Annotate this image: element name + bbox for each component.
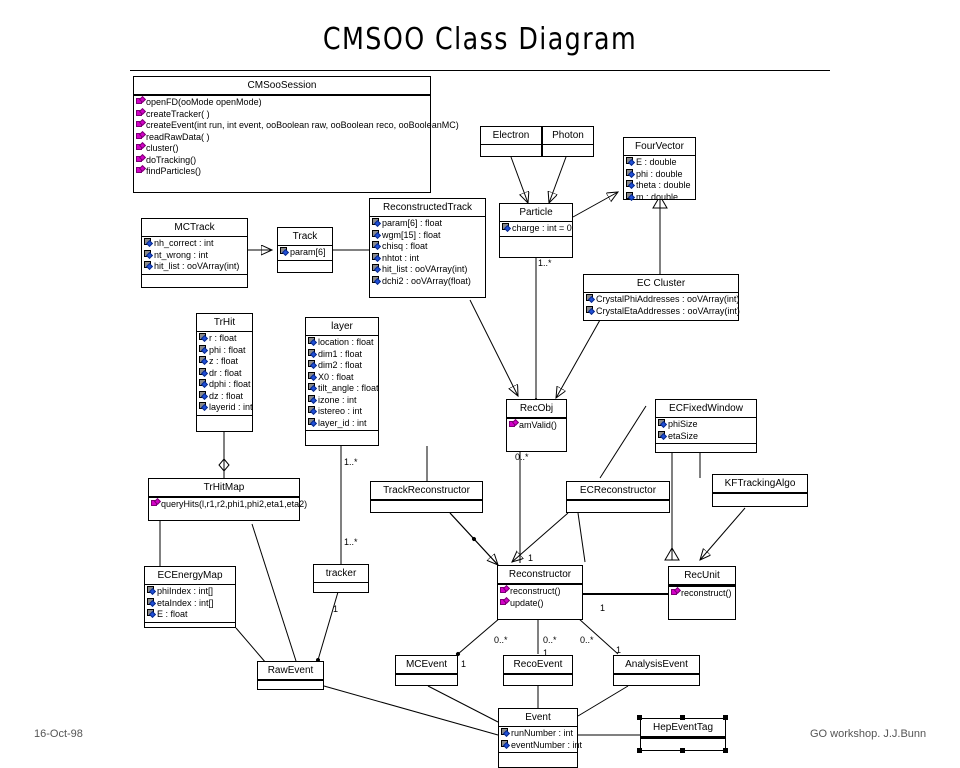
class-box-layer[interactable]: layer location : float dim1 : float dim2… — [305, 317, 379, 446]
attribute-icon — [626, 169, 635, 178]
method-row: update() — [498, 598, 582, 610]
methods-compartment — [500, 237, 572, 244]
attribute-icon — [308, 337, 317, 346]
methods-compartment: queryHits(l,r1,r2,phi1,phi2,eta1,eta2) — [149, 498, 299, 512]
class-box-trhitmap[interactable]: TrHitMap queryHits(l,r1,r2,phi1,phi2,eta… — [148, 478, 300, 521]
attribute-icon — [626, 157, 635, 166]
class-box-recobj[interactable]: RecObj amValid() — [506, 399, 567, 452]
attribute-row: dphi : float — [197, 379, 252, 391]
selection-handle[interactable] — [723, 715, 728, 720]
class-name: RawEvent — [258, 662, 323, 679]
class-box-ecfixedwindow[interactable]: ECFixedWindow phiSize etaSize — [655, 399, 757, 453]
methods-compartment — [371, 501, 482, 508]
attribute-icon — [501, 740, 510, 749]
attribute-row: nt_wrong : int — [142, 250, 247, 262]
attribute-row: dim1 : float — [306, 349, 378, 361]
class-box-kftrackingalgo[interactable]: KFTrackingAlgo — [712, 474, 808, 507]
class-name: ECReconstructor — [567, 482, 669, 499]
class-name: ECEnergyMap — [145, 567, 235, 584]
attribute-row: chisq : float — [370, 241, 485, 253]
attribute-row: phiSize — [656, 419, 756, 431]
attribute-icon — [501, 728, 510, 737]
divider — [656, 443, 756, 444]
class-name: CMSooSession — [134, 77, 430, 94]
class-name: EC Cluster — [584, 275, 738, 292]
attribute-row: z : float — [197, 356, 252, 368]
class-name: Electron — [481, 127, 541, 144]
multiplicity-label: 1 — [543, 648, 548, 658]
attributes-compartment — [258, 681, 323, 688]
multiplicity-label: 1 — [616, 645, 621, 655]
methods-compartment: reconstruct() update() — [498, 585, 582, 610]
attribute-row: CrystalPhiAddresses : ooVArray(int) — [584, 294, 738, 306]
divider — [197, 415, 252, 416]
attribute-icon — [308, 372, 317, 381]
attributes-compartment — [641, 739, 725, 746]
class-box-reconstructedtrack[interactable]: ReconstructedTrack param[6] : float wgm[… — [369, 198, 486, 298]
class-box-rawevent[interactable]: RawEvent — [257, 661, 324, 690]
attributes-compartment — [504, 675, 572, 682]
attribute-icon — [199, 356, 208, 365]
attributes-compartment: r : float phi : float z : float dr : flo… — [197, 332, 252, 415]
attribute-icon — [308, 418, 317, 427]
multiplicity-label: 0..* — [580, 635, 594, 645]
class-name: ECFixedWindow — [656, 400, 756, 417]
footer-date: 16-Oct-98 — [34, 728, 83, 740]
selection-handle[interactable] — [680, 748, 685, 753]
method-row: reconstruct() — [669, 588, 735, 600]
class-box-photon[interactable]: Photon — [542, 126, 594, 157]
method-icon — [671, 588, 680, 597]
attribute-row: hit_list : ooVArray(int) — [370, 264, 485, 276]
multiplicity-label: 0..* — [515, 452, 529, 462]
attributes-compartment — [396, 675, 457, 682]
attribute-row: tilt_angle : float — [306, 383, 378, 395]
class-box-recunit[interactable]: RecUnit reconstruct() — [668, 566, 736, 620]
methods-compartment: openFD(ooMode openMode) createTracker( )… — [134, 96, 430, 179]
attribute-icon — [308, 349, 317, 358]
attribute-icon — [308, 395, 317, 404]
class-name: KFTrackingAlgo — [713, 475, 807, 492]
method-row: openFD(ooMode openMode) — [134, 97, 430, 109]
class-name: AnalysisEvent — [614, 656, 699, 673]
selection-handle[interactable] — [723, 748, 728, 753]
multiplicity-label: 1..* — [344, 537, 358, 547]
attribute-row: dz : float — [197, 391, 252, 403]
attributes-compartment — [481, 145, 541, 152]
attribute-icon — [199, 402, 208, 411]
attribute-icon — [308, 360, 317, 369]
attribute-row: CrystalEtaAddresses : ooVArray(int) — [584, 306, 738, 318]
class-name: FourVector — [624, 138, 695, 155]
attribute-row: charge : int = 0 — [500, 223, 572, 235]
footer-credit: GO workshop. J.J.Bunn — [810, 728, 926, 740]
attribute-row: E : float — [145, 609, 235, 621]
attribute-row: theta : double — [624, 180, 695, 192]
class-name: MCTrack — [142, 219, 247, 236]
class-box-analysisevent[interactable]: AnalysisEvent — [613, 655, 700, 686]
attribute-icon — [372, 264, 381, 273]
methods-compartment: amValid() — [507, 419, 566, 433]
attribute-row: location : float — [306, 337, 378, 349]
class-box-trackreconstructor[interactable]: TrackReconstructor — [370, 481, 483, 513]
page-title: CMSOO Class Diagram — [29, 22, 931, 57]
method-icon — [509, 420, 518, 429]
attribute-icon — [372, 276, 381, 285]
class-name: ReconstructedTrack — [370, 199, 485, 216]
multiplicity-label: 1 — [333, 604, 338, 614]
class-box-hepeventtag[interactable]: HepEventTag — [640, 718, 726, 751]
attribute-icon — [308, 383, 317, 392]
attribute-row: phi : double — [624, 169, 695, 181]
method-icon — [136, 143, 145, 152]
class-name: Event — [499, 709, 577, 726]
attributes-compartment — [614, 675, 699, 682]
attribute-row: etaSize — [656, 431, 756, 443]
divider — [306, 430, 378, 431]
attributes-compartment: runNumber : int eventNumber : int — [499, 727, 577, 752]
class-box-mcevent[interactable]: MCEvent — [395, 655, 458, 686]
attribute-icon — [199, 379, 208, 388]
class-box-cmsoosession[interactable]: CMSooSession openFD(ooMode openMode) cre… — [133, 76, 431, 193]
attributes-compartment: charge : int = 0 — [500, 222, 572, 236]
multiplicity-label: 1..* — [344, 457, 358, 467]
class-diagram-slide: CMSOO Class Diagram — [0, 0, 960, 768]
attribute-row: eventNumber : int — [499, 740, 577, 752]
attribute-icon — [144, 261, 153, 270]
class-name: Reconstructor — [498, 566, 582, 583]
attributes-compartment: param[6] : float wgm[15] : float chisq :… — [370, 217, 485, 288]
attribute-row: dim2 : float — [306, 360, 378, 372]
method-icon — [136, 132, 145, 141]
attribute-row: phi : float — [197, 345, 252, 357]
attribute-icon — [372, 253, 381, 262]
attribute-icon — [199, 391, 208, 400]
attribute-row: nh_correct : int — [142, 238, 247, 250]
class-name: TrackReconstructor — [371, 482, 482, 499]
class-box-trhit[interactable]: TrHit r : float phi : float z : float dr… — [196, 313, 253, 432]
attribute-row: phiIndex : int[] — [145, 586, 235, 598]
class-box-mctrack[interactable]: MCTrack nh_correct : int nt_wrong : int … — [141, 218, 248, 288]
attribute-row: etaIndex : int[] — [145, 598, 235, 610]
attribute-row: izone : int — [306, 395, 378, 407]
class-box-tracker[interactable]: tracker — [313, 564, 369, 593]
attribute-row: param[6] — [278, 247, 332, 259]
class-box-fourvector[interactable]: FourVector E : double phi : double theta… — [623, 137, 696, 200]
attribute-icon — [147, 598, 156, 607]
attribute-icon — [144, 250, 153, 259]
multiplicity-label: 1 — [528, 553, 533, 563]
class-box-track[interactable]: Track param[6] — [277, 227, 333, 273]
methods-compartment: reconstruct() — [669, 587, 735, 601]
title-divider — [130, 70, 830, 71]
method-icon — [500, 586, 509, 595]
class-box-recoevent[interactable]: RecoEvent — [503, 655, 573, 686]
class-name: Photon — [543, 127, 593, 144]
selection-handle[interactable] — [637, 715, 642, 720]
attribute-icon — [586, 294, 595, 303]
attribute-row: runNumber : int — [499, 728, 577, 740]
attributes-compartment: phiSize etaSize — [656, 418, 756, 443]
multiplicity-label: 1 — [600, 603, 605, 613]
attribute-row: E : double — [624, 157, 695, 169]
class-box-eccluster[interactable]: EC Cluster CrystalPhiAddresses : ooVArra… — [583, 274, 739, 321]
attribute-icon — [658, 431, 667, 440]
multiplicity-label: 1 — [461, 659, 466, 669]
attribute-row: dr : float — [197, 368, 252, 380]
method-row: queryHits(l,r1,r2,phi1,phi2,eta1,eta2) — [149, 499, 299, 511]
class-name: RecoEvent — [504, 656, 572, 673]
selection-handle[interactable] — [680, 715, 685, 720]
class-name: TrHitMap — [149, 479, 299, 496]
attributes-compartment — [543, 145, 593, 152]
method-icon — [500, 598, 509, 607]
method-row: createTracker( ) — [134, 109, 430, 121]
methods-compartment — [278, 261, 332, 268]
method-row: cluster() — [134, 143, 430, 155]
attribute-row: param[6] : float — [370, 218, 485, 230]
multiplicity-label: 1..* — [538, 258, 552, 268]
attribute-icon — [372, 218, 381, 227]
attribute-icon — [502, 223, 511, 232]
attribute-row: hit_list : ooVArray(int) — [142, 261, 247, 273]
attribute-icon — [147, 586, 156, 595]
method-icon — [151, 499, 160, 508]
attribute-row: m : double — [624, 192, 695, 204]
attributes-compartment: phiIndex : int[] etaIndex : int[] E : fl… — [145, 585, 235, 622]
class-name: RecObj — [507, 400, 566, 417]
method-row: reconstruct() — [498, 586, 582, 598]
attribute-row: istereo : int — [306, 406, 378, 418]
selection-handle[interactable] — [637, 748, 642, 753]
attribute-icon — [144, 238, 153, 247]
attribute-row: X0 : float — [306, 372, 378, 384]
attribute-row: wgm[15] : float — [370, 230, 485, 242]
class-name: Particle — [500, 204, 572, 221]
attributes-compartment: nh_correct : int nt_wrong : int hit_list… — [142, 237, 247, 274]
attribute-icon — [586, 306, 595, 315]
attribute-icon — [372, 241, 381, 250]
attribute-row: layer_id : int — [306, 418, 378, 430]
class-box-electron[interactable]: Electron — [480, 126, 542, 157]
class-name: HepEventTag — [641, 719, 725, 736]
method-icon — [136, 155, 145, 164]
method-row: doTracking() — [134, 155, 430, 167]
attributes-compartment: CrystalPhiAddresses : ooVArray(int) Crys… — [584, 293, 738, 318]
attribute-icon — [199, 345, 208, 354]
attribute-icon — [280, 247, 289, 256]
methods-compartment — [499, 753, 577, 760]
attribute-icon — [147, 609, 156, 618]
class-box-event[interactable]: Event runNumber : int eventNumber : int — [498, 708, 578, 768]
class-box-ecreconstructor[interactable]: ECReconstructor — [566, 481, 670, 513]
method-row: amValid() — [507, 420, 566, 432]
methods-compartment — [142, 275, 247, 282]
attribute-icon — [372, 230, 381, 239]
method-row: readRawData( ) — [134, 132, 430, 144]
class-name: TrHit — [197, 314, 252, 331]
attribute-icon — [626, 192, 635, 201]
method-icon — [136, 109, 145, 118]
attribute-row: nhtot : int — [370, 253, 485, 265]
attributes-compartment: param[6] — [278, 246, 332, 260]
attribute-row: layerid : int — [197, 402, 252, 414]
attribute-icon — [199, 368, 208, 377]
multiplicity-label: 0..* — [543, 635, 557, 645]
class-box-particle[interactable]: Particle charge : int = 0 — [499, 203, 573, 258]
method-row: findParticles() — [134, 166, 430, 178]
attribute-icon — [199, 333, 208, 342]
divider — [145, 622, 235, 623]
class-name: RecUnit — [669, 567, 735, 584]
class-box-ecenergymap[interactable]: ECEnergyMap phiIndex : int[] etaIndex : … — [144, 566, 236, 628]
method-icon — [136, 120, 145, 129]
attributes-compartment: location : float dim1 : float dim2 : flo… — [306, 336, 378, 430]
method-icon — [136, 166, 145, 175]
attribute-row: r : float — [197, 333, 252, 345]
method-icon — [136, 97, 145, 106]
class-box-reconstructor[interactable]: Reconstructor reconstruct() update() — [497, 565, 583, 620]
methods-compartment — [713, 494, 807, 501]
attribute-icon — [626, 180, 635, 189]
class-name: Track — [278, 228, 332, 245]
attribute-icon — [658, 419, 667, 428]
methods-compartment — [567, 501, 669, 508]
class-name: MCEvent — [396, 656, 457, 673]
class-name: layer — [306, 318, 378, 335]
attributes-compartment: E : double phi : double theta : double m… — [624, 156, 695, 204]
attributes-compartment — [314, 583, 368, 590]
attribute-icon — [308, 406, 317, 415]
attribute-row: dchi2 : ooVArray(float) — [370, 276, 485, 288]
method-row: createEvent(int run, int event, ooBoolea… — [134, 120, 430, 132]
class-name: tracker — [314, 565, 368, 582]
multiplicity-label: 0..* — [494, 635, 508, 645]
